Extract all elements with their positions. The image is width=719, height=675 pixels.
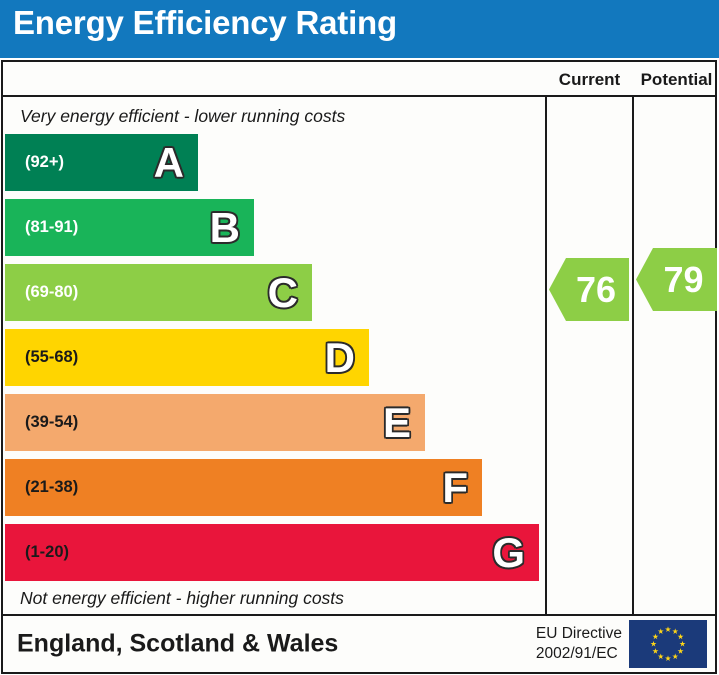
potential-rating-arrow: 79 xyxy=(636,248,717,311)
band-letter-b: B xyxy=(210,207,240,249)
band-letter-a: A xyxy=(154,142,184,184)
chart-footer: England, Scotland & Wales EU Directive 2… xyxy=(1,616,717,674)
band-range-d: (55-68) xyxy=(25,348,78,367)
band-range-c: (69-80) xyxy=(25,283,78,302)
band-row-b: (81-91) B xyxy=(5,199,254,256)
footer-directive-line1: EU Directive xyxy=(536,624,622,644)
current-rating-arrow: 76 xyxy=(549,258,629,321)
band-letter-f: F xyxy=(442,467,468,509)
chart-header-banner: Energy Efficiency Rating xyxy=(0,0,719,58)
band-letter-g: G xyxy=(492,532,525,574)
column-header-current: Current xyxy=(547,62,632,97)
column-header-potential: Potential xyxy=(634,62,719,97)
band-row-e: (39-54) E xyxy=(5,394,425,451)
footer-directive-line2: 2002/91/EC xyxy=(536,644,622,664)
table-header-row: Current Potential xyxy=(3,62,715,97)
eu-flag-icon xyxy=(629,620,707,668)
caption-top: Very energy efficient - lower running co… xyxy=(3,99,543,133)
band-row-d: (55-68) D xyxy=(5,329,369,386)
rating-table: Current Potential Very energy efficient … xyxy=(1,60,717,616)
band-row-f: (21-38) F xyxy=(5,459,482,516)
band-range-a: (92+) xyxy=(25,153,64,172)
band-range-b: (81-91) xyxy=(25,218,78,237)
band-letter-c: C xyxy=(268,272,298,314)
epc-energy-efficiency-chart: Energy Efficiency Rating Current Potenti… xyxy=(0,0,719,675)
column-divider-potential xyxy=(632,62,634,614)
band-list: (92+) A (81-91) B (69-80) C (55-68) D (3… xyxy=(3,134,543,582)
footer-region-label: England, Scotland & Wales xyxy=(17,630,338,659)
band-row-a: (92+) A xyxy=(5,134,198,191)
band-row-g: (1-20) G xyxy=(5,524,539,581)
band-range-e: (39-54) xyxy=(25,413,78,432)
column-divider-current xyxy=(545,62,547,614)
footer-directive-label: EU Directive 2002/91/EC xyxy=(536,624,622,664)
band-range-f: (21-38) xyxy=(25,478,78,497)
band-letter-d: D xyxy=(325,337,355,379)
caption-bottom: Not energy efficient - higher running co… xyxy=(3,580,543,616)
band-letter-e: E xyxy=(383,402,411,444)
band-row-c: (69-80) C xyxy=(5,264,312,321)
band-range-g: (1-20) xyxy=(25,543,69,562)
page-title: Energy Efficiency Rating xyxy=(13,4,397,42)
